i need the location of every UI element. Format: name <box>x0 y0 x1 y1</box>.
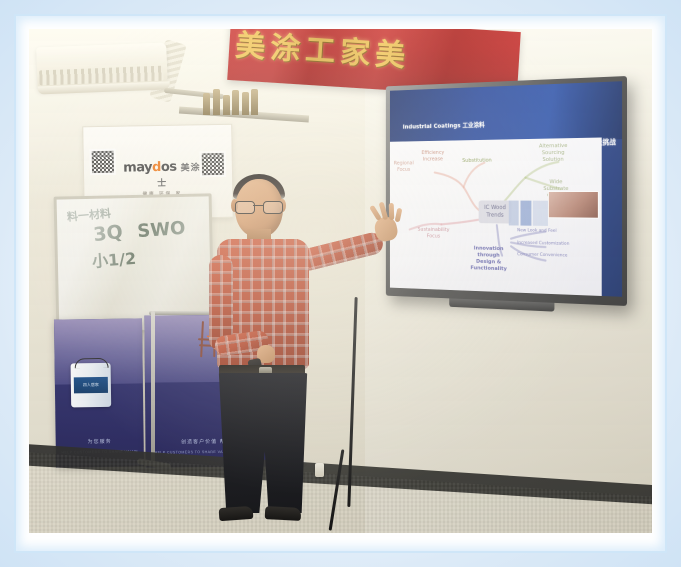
glasses-lens <box>235 201 255 214</box>
mindmap-node: Innovation through Design & Functionalit… <box>471 246 507 273</box>
shelf-bottles <box>201 89 271 115</box>
glasses-icon <box>235 201 281 212</box>
presentation-slide: Industrial Coatings 工业涂料 Wood Market Tre… <box>390 81 622 297</box>
arm-extended <box>296 231 385 273</box>
rollup-footer-cn: 为您服务 <box>56 437 144 445</box>
slide-inset-photo <box>548 191 599 218</box>
rollup-banner-left: 四人居家 为您服务 HELP CUSTOMERS TO SHARE VALUE <box>54 318 144 467</box>
slide-title-bar <box>390 81 622 144</box>
glasses-lens <box>263 201 283 214</box>
mindmap-node: Alternative Sourcing Solution <box>539 143 567 164</box>
banner-stand-post <box>151 311 155 463</box>
mindmap-center-node: IC Wood Trends <box>479 201 511 224</box>
slide-inset-chart <box>509 201 548 226</box>
presenter-person <box>179 169 389 529</box>
tv-screen: Industrial Coatings 工业涂料 Wood Market Tre… <box>390 81 622 297</box>
mindmap-node: Substitution <box>462 158 492 165</box>
photograph: 美涂工家美 maydos 美涂士 健康 环保 家 料一材料 3Q SWO 小1/… <box>29 29 652 533</box>
slide-body: Efficiency Increase Substitution Alterna… <box>390 138 602 296</box>
wall-mounted-display: Industrial Coatings 工业涂料 Wood Market Tre… <box>386 76 627 306</box>
air-conditioner-icon <box>36 43 168 92</box>
mindmap-node: Sustainability Focus <box>418 227 450 241</box>
bucket-handle <box>75 358 109 368</box>
slide-title-line-1: Industrial Coatings 工业涂料 <box>403 120 485 131</box>
mindmap-node: Increased Customization <box>517 241 569 248</box>
finger <box>389 203 394 220</box>
mindmap-node: Efficiency Increase <box>422 150 445 163</box>
mindmap-node: Regional Focus <box>394 161 414 174</box>
maydos-wordmark-part1: may <box>123 160 152 176</box>
shoe <box>265 506 302 521</box>
image-frame: 美涂工家美 maydos 美涂士 健康 环保 家 料一材料 3Q SWO 小1/… <box>0 0 681 567</box>
mindmap-node: New Look and Feel <box>517 228 557 234</box>
shoe <box>219 506 254 521</box>
trousers <box>217 373 309 513</box>
bucket-label: 四人居家 <box>74 377 108 393</box>
qr-code-icon <box>90 149 116 175</box>
maydos-wordmark-part2: os <box>161 160 177 175</box>
glasses-bridge <box>253 205 263 206</box>
paint-bucket-product: 四人居家 <box>71 363 112 408</box>
maydos-wordmark-accent: d <box>152 160 161 175</box>
